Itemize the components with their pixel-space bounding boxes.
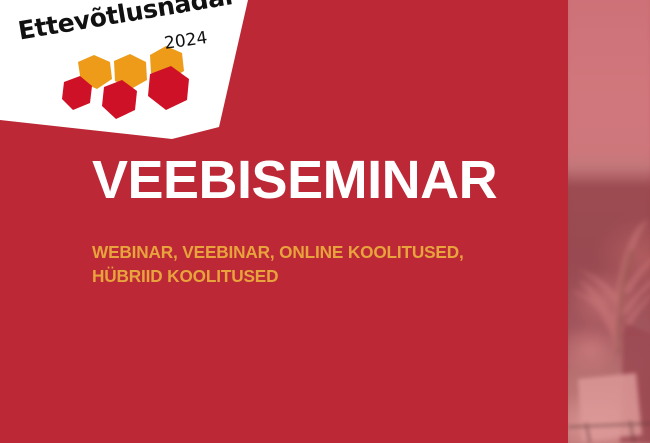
logo-badge: Ettevõtlusnädal 2024 (0, 0, 252, 142)
interior-photo (568, 0, 650, 443)
subtitle-line-2: HÜBRIID KOOLITUSED (92, 264, 562, 288)
red-hexagon-right (148, 66, 189, 110)
page-title: VEEBISEMINAR (92, 153, 562, 207)
webinar-banner: Ettevõtlusnädal 2024 VEEBISEMINAR WEBINA… (0, 0, 650, 443)
photo-red-tint (568, 0, 650, 443)
subtitle-line-1: WEBINAR, VEEBINAR, ONLINE KOOLITUSED, (92, 240, 562, 264)
headline-block: VEEBISEMINAR WEBINAR, VEEBINAR, ONLINE K… (92, 153, 562, 289)
subtitle: WEBINAR, VEEBINAR, ONLINE KOOLITUSED, HÜ… (92, 207, 562, 289)
